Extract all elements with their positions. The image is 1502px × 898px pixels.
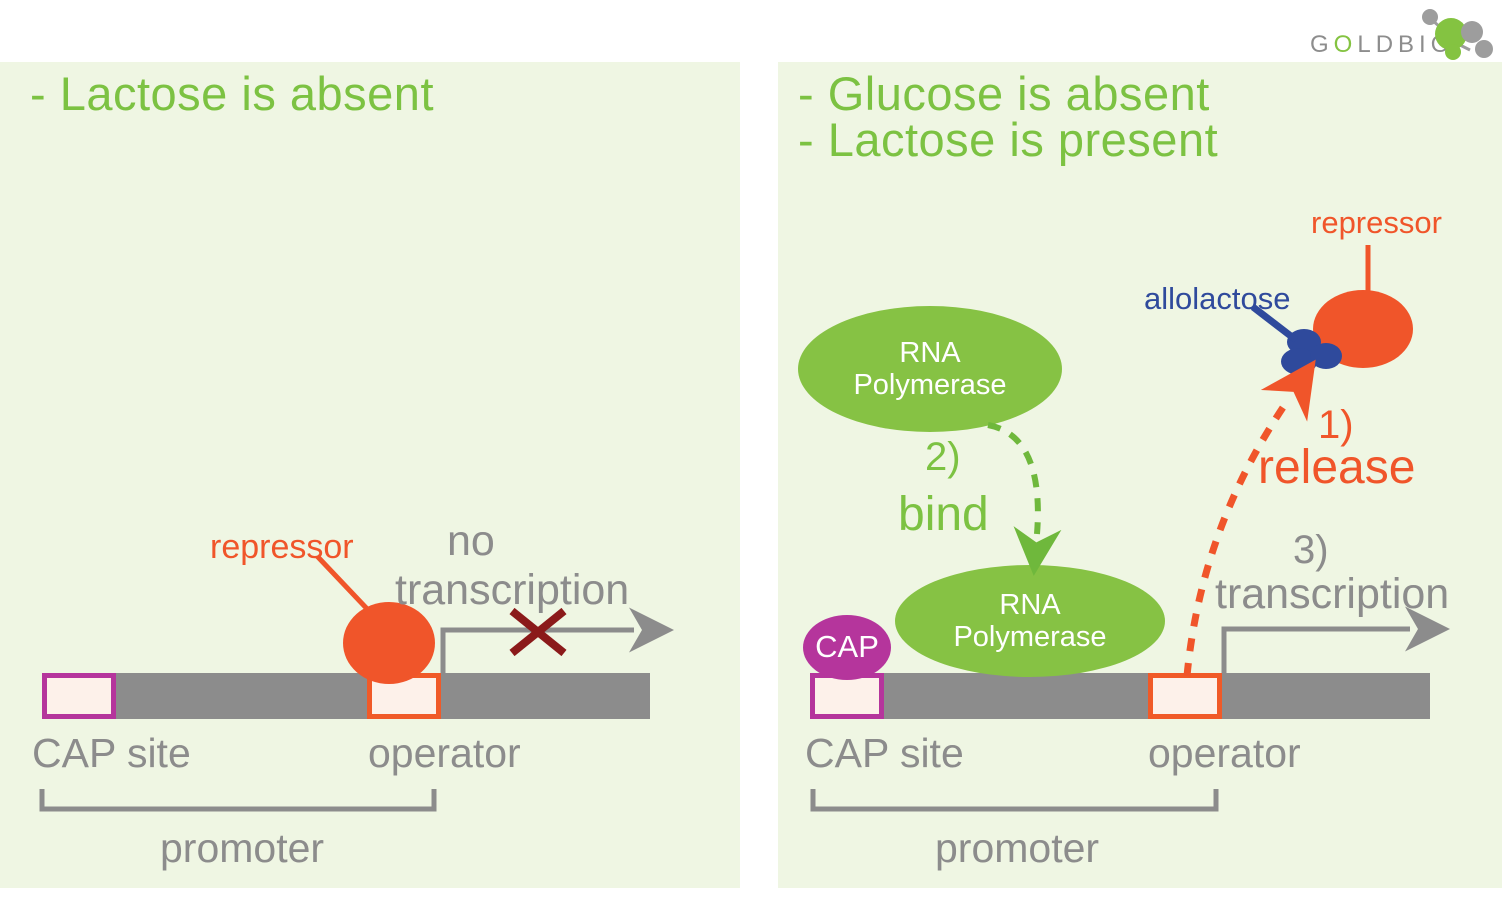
promoter-label-right: promoter [935,825,1099,872]
rna-polymerase-bound: RNA Polymerase [895,565,1165,677]
no-transcription-label-line1: no [447,517,495,566]
promoter-label-left: promoter [160,825,324,872]
repressor-label-left: repressor [210,528,354,567]
allolactose-label: allolactose [1144,281,1290,317]
left-panel-heading: - Lactose is absent [30,66,434,121]
operator-label-right: operator [1148,730,1301,777]
step-1-label-release: release [1258,440,1415,495]
repressor-label-right: repressor [1311,205,1442,241]
operator-label-left: operator [368,730,521,777]
diagram-canvas: GOLDBIO ® - Lactose is absent repressor … [0,0,1502,898]
rna-polymerase-unbound: RNA Polymerase [798,306,1062,432]
operator-box-right [1148,673,1222,719]
rnap-bound-label-line1: RNA [953,589,1106,621]
step-3-label-transcription: transcription [1215,570,1449,619]
right-panel-heading-line2: - Lactose is present [798,112,1218,167]
allolactose-molecule-3 [1310,343,1342,369]
dna-strand-right [810,673,1430,719]
cap-site-label-left: CAP site [32,730,191,777]
rnap-bound-label-line2: Polymerase [953,621,1106,653]
step-2-label-bind: bind [898,487,989,542]
no-transcription-label-line2: transcription [395,566,629,615]
cap-site-box-left [42,673,116,719]
rnap-label-line2: Polymerase [853,369,1006,401]
step-2-number: 2) [925,435,961,480]
cap-protein: CAP [803,615,891,680]
step-3-number: 3) [1293,528,1329,573]
rnap-label-line1: RNA [853,337,1006,369]
cap-site-label-right: CAP site [805,730,964,777]
logo-molecule-icon [1310,4,1496,62]
dna-strand-left [42,673,650,719]
goldbio-logo: GOLDBIO ® [1310,4,1496,62]
